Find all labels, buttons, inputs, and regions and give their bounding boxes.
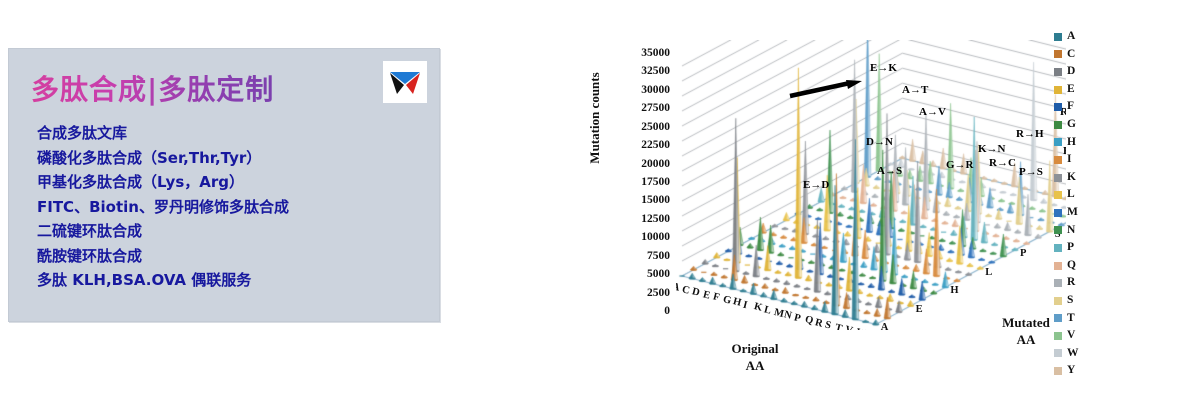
y-axis-tick: 30000 (641, 85, 670, 95)
list-item: 二硫键环肽合成 (37, 219, 429, 244)
promo-panel: 多肽合成|多肽定制 合成多肽文库 磷酸化多肽合成（Ser,Thr,Tyr） 甲基… (8, 48, 440, 322)
legend-swatch-icon (1054, 68, 1062, 76)
legend-item-I[interactable]: I (1054, 151, 1114, 169)
legend-swatch-icon (1054, 349, 1062, 357)
legend-label: D (1067, 66, 1075, 78)
plot-canvas (676, 40, 1066, 330)
legend-label: I (1067, 154, 1071, 166)
y-axis-title: Mutation counts (587, 43, 603, 193)
legend-item-W[interactable]: W (1054, 345, 1114, 363)
legend-label: V (1067, 330, 1075, 342)
legend-item-Q[interactable]: Q (1054, 257, 1114, 275)
mutation-counts-3d-chart: Mutation counts 350003250030000275002500… (580, 18, 1120, 388)
legend-label: T (1067, 313, 1075, 325)
legend-label: R (1067, 277, 1075, 289)
z-axis-title-line2: AA (1017, 332, 1036, 347)
legend-swatch-icon (1054, 209, 1062, 217)
legend-swatch-icon (1054, 50, 1062, 58)
legend-item-H[interactable]: H (1054, 134, 1114, 152)
legend-swatch-icon (1054, 33, 1062, 41)
legend-item-A[interactable]: A (1054, 28, 1114, 46)
x-axis-tick-R: R (814, 317, 824, 330)
list-item: 磷酸化多肽合成（Ser,Thr,Tyr） (37, 146, 429, 171)
x-axis-title: OriginalAA (700, 340, 810, 374)
legend-swatch-icon (1054, 332, 1062, 340)
y-axis-tick: 25000 (641, 122, 670, 132)
legend-label: Y (1067, 365, 1075, 377)
legend-item-R[interactable]: R (1054, 274, 1114, 292)
y-axis-tick: 15000 (641, 195, 670, 205)
legend-item-C[interactable]: C (1054, 46, 1114, 64)
legend-label: K (1067, 172, 1076, 184)
y-axis-tick: 17500 (641, 177, 670, 187)
legend-label: F (1067, 101, 1074, 113)
legend-label: P (1067, 242, 1074, 254)
legend-item-M[interactable]: M (1054, 204, 1114, 222)
y-axis-tick: 27500 (641, 103, 670, 113)
annotation-P-to-S: P→S (1019, 166, 1043, 178)
legend-item-L[interactable]: L (1054, 186, 1114, 204)
y-axis-tick: 20000 (641, 159, 670, 169)
y-axis-tick: 5000 (647, 269, 670, 279)
legend-swatch-icon (1054, 279, 1062, 287)
list-item: 合成多肽文库 (37, 121, 429, 146)
legend-item-P[interactable]: P (1054, 239, 1114, 257)
left-trend-arrow-icon (788, 78, 864, 100)
legend-label: L (1067, 189, 1075, 201)
list-item: 甲基化多肽合成（Lys，Arg） (37, 170, 429, 195)
legend-swatch-icon (1054, 367, 1062, 375)
legend-item-V[interactable]: V (1054, 327, 1114, 345)
annotation-R-to-C: R→C (989, 157, 1016, 169)
annotation-A-to-S: A→S (877, 165, 902, 177)
legend-label: W (1067, 348, 1079, 360)
legend-swatch-icon (1054, 174, 1062, 182)
legend-label: H (1067, 137, 1076, 149)
annotation-E-to-D: E→D (803, 179, 829, 191)
z-axis-tick-H: H (950, 285, 958, 296)
logo-svg (383, 61, 427, 103)
y-axis-tick: 12500 (641, 214, 670, 224)
legend-label: G (1067, 119, 1076, 131)
list-item: 酰胺键环肽合成 (37, 244, 429, 269)
legend-label: E (1067, 84, 1075, 96)
y-axis-tick: 32500 (641, 66, 670, 76)
annotation-K-to-N: K→N (978, 143, 1006, 155)
legend-item-G[interactable]: G (1054, 116, 1114, 134)
z-axis-tick-A: A (881, 322, 889, 330)
legend-item-N[interactable]: N (1054, 222, 1114, 240)
y-axis-tick: 10000 (641, 232, 670, 242)
x-axis-tick-T: T (834, 322, 843, 330)
y-axis-tick: 0 (664, 306, 670, 316)
legend-label: M (1067, 207, 1078, 219)
z-axis-tick-E: E (916, 304, 923, 315)
legend-swatch-icon (1054, 86, 1062, 94)
service-list: 合成多肽文库 磷酸化多肽合成（Ser,Thr,Tyr） 甲基化多肽合成（Lys，… (37, 121, 429, 293)
page-title: 多肽合成|多肽定制 (31, 68, 274, 108)
z-axis-tick-P: P (1020, 248, 1026, 259)
legend-swatch-icon (1054, 121, 1062, 129)
x-axis-title-line1: Original (732, 341, 779, 356)
legend-item-Y[interactable]: Y (1054, 362, 1114, 380)
company-logo (383, 61, 427, 103)
legend-item-D[interactable]: D (1054, 63, 1114, 81)
legend-item-K[interactable]: K (1054, 169, 1114, 187)
legend-item-F[interactable]: F (1054, 98, 1114, 116)
y-axis-ticks: 3500032500300002750025000225002000017500… (608, 48, 670, 306)
annotation-R-to-H: R→H (1016, 128, 1044, 140)
legend-swatch-icon (1054, 226, 1062, 234)
list-item: 多肽 KLH,BSA.OVA 偶联服务 (37, 268, 429, 293)
legend-label: Q (1067, 260, 1076, 272)
list-item: FITC、Biotin、罗丹明修饰多肽合成 (37, 195, 429, 220)
annotation-A-to-T: A→T (902, 84, 928, 96)
x-axis-title-line2: AA (746, 358, 765, 373)
annotation-G-to-R: G→R (946, 159, 974, 171)
y-axis-tick: 7500 (647, 251, 670, 261)
y-axis-tick: 22500 (641, 140, 670, 150)
legend-swatch-icon (1054, 156, 1062, 164)
z-axis-title-line1: Mutated (1002, 315, 1050, 330)
legend-label: A (1067, 31, 1075, 43)
annotation-D-to-N: D→N (866, 136, 893, 148)
annotation-E-to-K: E→K (870, 62, 897, 74)
x-axis-tick-V: V (844, 325, 854, 330)
legend-label: N (1067, 225, 1075, 237)
legend-item-S[interactable]: S (1054, 292, 1114, 310)
legend-swatch-icon (1054, 262, 1062, 270)
legend-item-T[interactable]: T (1054, 310, 1114, 328)
y-axis-tick: 2500 (647, 288, 670, 298)
plot-area: E→DE→KA→TA→VD→NA→SG→RK→NR→CR→HP→SR→QR→WS… (676, 40, 1066, 330)
legend-swatch-icon (1054, 191, 1062, 199)
legend-swatch-icon (1054, 138, 1062, 146)
annotation-A-to-V: A→V (919, 106, 946, 118)
z-axis-tick-L: L (985, 267, 992, 278)
y-axis-tick: 35000 (641, 48, 670, 58)
legend-swatch-icon (1054, 297, 1062, 305)
legend-swatch-icon (1054, 244, 1062, 252)
legend-label: S (1067, 295, 1073, 307)
legend-label: C (1067, 49, 1075, 61)
legend-item-E[interactable]: E (1054, 81, 1114, 99)
legend-swatch-icon (1054, 314, 1062, 322)
chart-legend: ACDEFGHIKLMNPQRSTVWY (1054, 28, 1114, 380)
legend-swatch-icon (1054, 103, 1062, 111)
